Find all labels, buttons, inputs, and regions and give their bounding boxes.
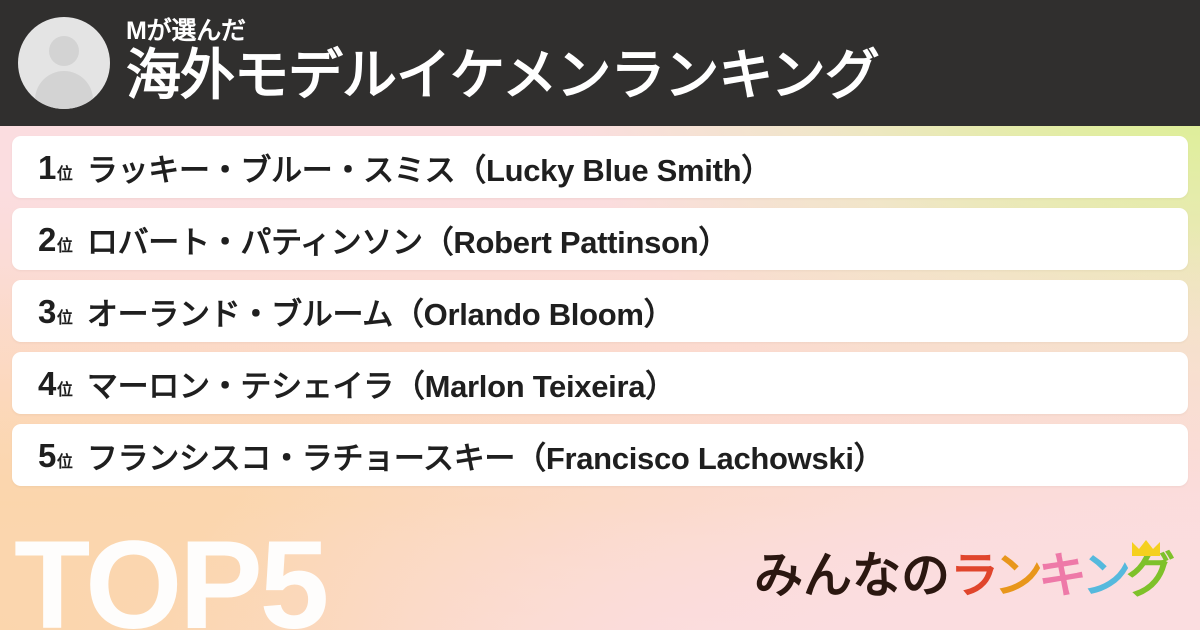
rank-entry-name: オーランド・ブルーム（Orlando Bloom） (87, 289, 674, 334)
ranking-poster: Mが選んだ 海外モデルイケメンランキング 1位 ラッキー・ブルー・スミス（Luc… (0, 0, 1200, 630)
top5-watermark: TOP5 (14, 523, 326, 630)
logo-char-ki: キ (1038, 549, 1087, 603)
rank-entry-name: マーロン・テシェイラ（Marlon Teixeira） (87, 361, 676, 406)
rank-value: 5 (38, 439, 56, 472)
crown-icon (1132, 540, 1160, 556)
table-row[interactable]: 4位 マーロン・テシェイラ（Marlon Teixeira） (12, 352, 1188, 414)
header-bar: Mが選んだ 海外モデルイケメンランキング (0, 0, 1200, 126)
avatar-head-shape (49, 36, 79, 66)
table-row[interactable]: 1位 ラッキー・ブルー・スミス（Lucky Blue Smith） (12, 136, 1188, 198)
rank-unit: 位 (57, 383, 73, 399)
rank-number: 1位 (38, 151, 73, 184)
rank-value: 1 (38, 151, 56, 184)
rank-number: 2位 (38, 223, 73, 256)
logo-artwork: みんなの ラ ン キ ン グ (754, 540, 1174, 606)
rank-entry-name: ラッキー・ブルー・スミス（Lucky Blue Smith） (87, 145, 772, 190)
rank-number: 4位 (38, 367, 73, 400)
logo-char-gu: グ (1126, 549, 1174, 603)
table-row[interactable]: 3位 オーランド・ブルーム（Orlando Bloom） (12, 280, 1188, 342)
user-avatar-icon (18, 17, 110, 109)
rank-value: 4 (38, 367, 56, 400)
logo-char-n1: ン (994, 549, 1043, 603)
rank-value: 2 (38, 223, 56, 256)
rank-number: 5位 (38, 439, 73, 472)
rank-entry-name: ロバート・パティンソン（Robert Pattinson） (87, 217, 729, 262)
rank-unit: 位 (57, 455, 73, 471)
rank-number: 3位 (38, 295, 73, 328)
table-row[interactable]: 5位 フランシスコ・ラチョースキー（Francisco Lachowski） (12, 424, 1188, 486)
logo-char-ra: ラ (950, 549, 999, 603)
logo-char-n2: ン (1082, 549, 1131, 603)
rank-entry-name: フランシスコ・ラチョースキー（Francisco Lachowski） (87, 433, 885, 478)
rank-value: 3 (38, 295, 56, 328)
rank-unit: 位 (57, 239, 73, 255)
table-row[interactable]: 2位 ロバート・パティンソン（Robert Pattinson） (12, 208, 1188, 270)
rank-unit: 位 (57, 311, 73, 327)
rank-unit: 位 (57, 167, 73, 183)
avatar-body-shape (35, 71, 93, 109)
ranking-list: 1位 ラッキー・ブルー・スミス（Lucky Blue Smith） 2位 ロバー… (12, 136, 1188, 496)
page-title: 海外モデルイケメンランキング (126, 45, 879, 106)
minnano-ranking-logo[interactable]: みんなの ラ ン キ ン グ (754, 540, 1174, 606)
logo-plain-text: みんなの (754, 549, 950, 603)
header-kicker: Mが選んだ (126, 18, 879, 44)
header-text-group: Mが選んだ 海外モデルイケメンランキング (126, 18, 879, 108)
